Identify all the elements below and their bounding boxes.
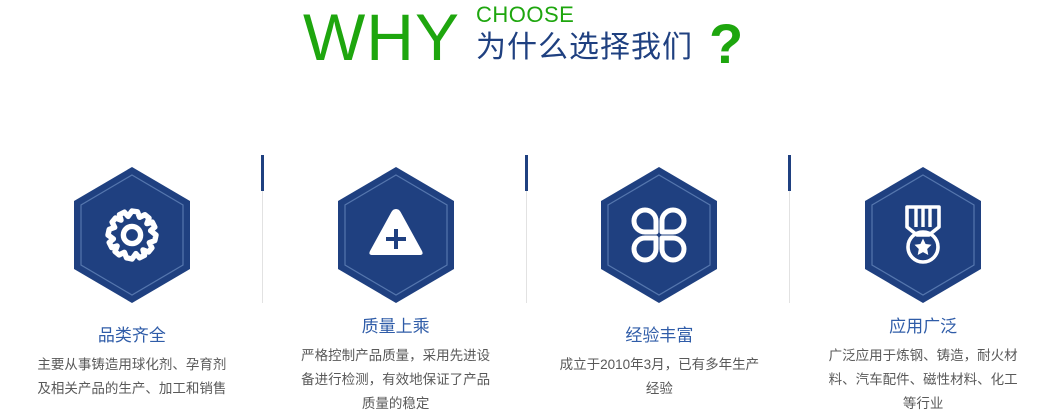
card-description: 成立于2010年3月，已有多年生产经验 [559,353,759,401]
card-description: 严格控制产品质量，采用先进设备进行检测，有效地保证了产品质量的稳定 [296,344,496,416]
card-title: 经验丰富 [625,325,693,347]
header-chinese-title: 为什么选择我们 [476,30,693,66]
card-title: 应用广泛 [889,316,957,338]
hexagon-badge [599,165,719,305]
feature-card[interactable]: 品类齐全 主要从事铸造用球化剂、孕育剂及相关产品的生产、加工和销售 [0,150,264,416]
header-inner: WHY CHOOSE 为什么选择我们 ? [303,0,743,74]
divider-bottom-segment [789,191,790,303]
divider-bottom-segment [526,191,527,303]
hexagon-badge [863,165,983,296]
card-title: 质量上乘 [362,316,430,338]
header-text-stack: CHOOSE 为什么选择我们 [476,2,693,66]
header-why-text: WHY [303,0,460,74]
divider-bottom-segment [262,191,263,303]
hexagon-shape [72,165,192,305]
hexagon-badge [72,165,192,305]
header-choose-text: CHOOSE [476,2,693,28]
feature-cards-row: 品类齐全 主要从事铸造用球化剂、孕育剂及相关产品的生产、加工和销售 质量上乘 严… [0,150,1055,416]
hexagon-shape [599,165,719,305]
card-description: 主要从事铸造用球化剂、孕育剂及相关产品的生产、加工和销售 [32,353,232,401]
card-description: 广泛应用于炼钢、铸造，耐火材料、汽车配件、磁性材料、化工等行业 [823,344,1023,416]
hexagon-shape [863,165,983,305]
hexagon-shape [336,165,456,305]
card-title: 品类齐全 [98,325,166,347]
feature-card[interactable]: 经验丰富 成立于2010年3月，已有多年生产经验 [528,150,792,416]
hexagon-badge [336,165,456,296]
header-question-mark: ? [709,14,743,74]
feature-card[interactable]: 质量上乘 严格控制产品质量，采用先进设备进行检测，有效地保证了产品质量的稳定 [264,150,528,416]
section-header: WHY CHOOSE 为什么选择我们 ? [0,0,1055,90]
feature-card[interactable]: 应用广泛 广泛应用于炼钢、铸造，耐火材料、汽车配件、磁性材料、化工等行业 [791,150,1055,416]
